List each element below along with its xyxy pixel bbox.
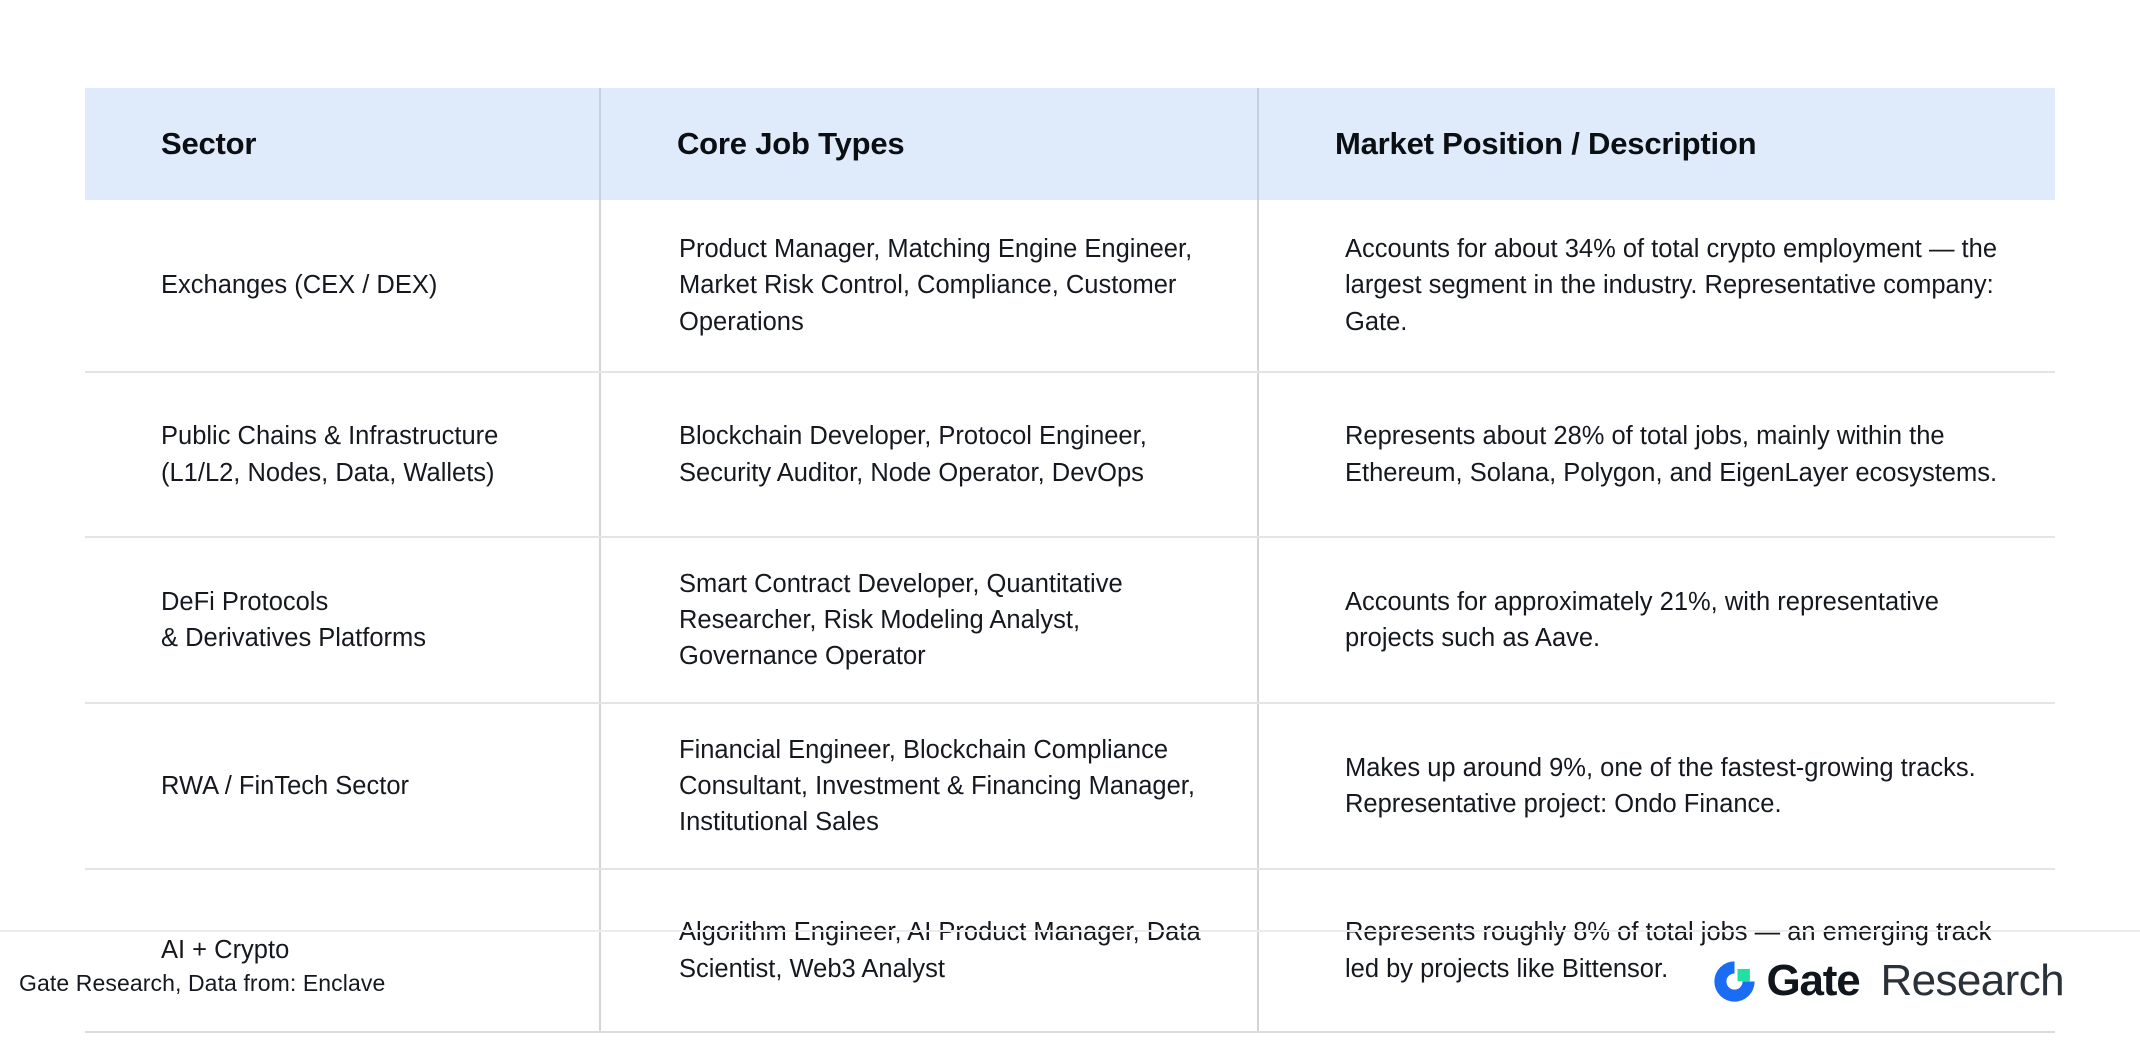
cell-market-position: Represents about 28% of total jobs, main… [1258,372,2055,537]
cell-market-position: Makes up around 9%, one of the fastest-g… [1258,703,2055,869]
market-position-text: Accounts for about 34% of total crypto e… [1345,231,2015,340]
core-job-types-text: Algorithm Engineer, AI Product Manager, … [679,914,1223,986]
sector-text: Exchanges (CEX / DEX) [161,267,575,303]
column-header-core-job-types-label: Core Job Types [677,126,1257,162]
cell-sector: RWA / FinTech Sector [85,703,600,869]
gate-logo-icon [1712,959,1757,1004]
cell-market-position: Accounts for about 34% of total crypto e… [1258,200,2055,372]
sector-overview-table-container: Sector Core Job Types Market Position / … [85,88,2055,1033]
cell-core-job-types: Algorithm Engineer, AI Product Manager, … [600,869,1258,1032]
cell-core-job-types: Financial Engineer, Blockchain Complianc… [600,703,1258,869]
sector-text: AI + Crypto [161,932,575,968]
table-header-row: Sector Core Job Types Market Position / … [85,88,2055,200]
sector-text: DeFi Protocols & Derivatives Platforms [161,584,575,656]
column-header-sector: Sector [85,88,600,200]
sector-text: Public Chains & Infrastructure (L1/L2, N… [161,418,575,490]
column-header-core-job-types: Core Job Types [600,88,1258,200]
market-position-text: Makes up around 9%, one of the fastest-g… [1345,750,2015,822]
table-row: Public Chains & Infrastructure (L1/L2, N… [85,372,2055,537]
table-body: Exchanges (CEX / DEX) Product Manager, M… [85,200,2055,1032]
table-row: AI + Crypto Algorithm Engineer, AI Produ… [85,869,2055,1032]
cell-market-position: Accounts for approximately 21%, with rep… [1258,537,2055,703]
cell-market-position: Represents roughly 8% of total jobs — an… [1258,869,2055,1032]
cell-core-job-types: Smart Contract Developer, Quantitative R… [600,537,1258,703]
cell-core-job-types: Blockchain Developer, Protocol Engineer,… [600,372,1258,537]
core-job-types-text: Financial Engineer, Blockchain Complianc… [679,732,1223,841]
table-header: Sector Core Job Types Market Position / … [85,88,2055,200]
brand-name: Gate [1766,959,1859,1003]
market-position-text: Accounts for approximately 21%, with rep… [1345,584,2015,656]
sector-overview-table: Sector Core Job Types Market Position / … [85,88,2055,1033]
brand-suffix: Research [1880,959,2064,1003]
cell-sector: DeFi Protocols & Derivatives Platforms [85,537,600,703]
table-row: RWA / FinTech Sector Financial Engineer,… [85,703,2055,869]
cell-sector: Exchanges (CEX / DEX) [85,200,600,372]
sector-text: RWA / FinTech Sector [161,768,575,804]
cell-sector: Public Chains & Infrastructure (L1/L2, N… [85,372,600,537]
cell-sector: AI + Crypto [85,869,600,1032]
core-job-types-text: Product Manager, Matching Engine Enginee… [679,231,1223,340]
core-job-types-text: Smart Contract Developer, Quantitative R… [679,566,1223,675]
market-position-text: Represents about 28% of total jobs, main… [1345,418,2015,490]
table-row: DeFi Protocols & Derivatives Platforms S… [85,537,2055,703]
gate-research-logo: Gate Research [1712,955,2064,1007]
table-row: Exchanges (CEX / DEX) Product Manager, M… [85,200,2055,372]
cell-core-job-types: Product Manager, Matching Engine Enginee… [600,200,1258,372]
core-job-types-text: Blockchain Developer, Protocol Engineer,… [679,418,1223,490]
column-header-market-position: Market Position / Description [1258,88,2055,200]
footer-divider [0,930,2140,932]
column-header-sector-label: Sector [161,126,599,162]
source-note: Gate Research, Data from: Enclave [19,970,385,997]
column-header-market-position-label: Market Position / Description [1335,126,2055,162]
